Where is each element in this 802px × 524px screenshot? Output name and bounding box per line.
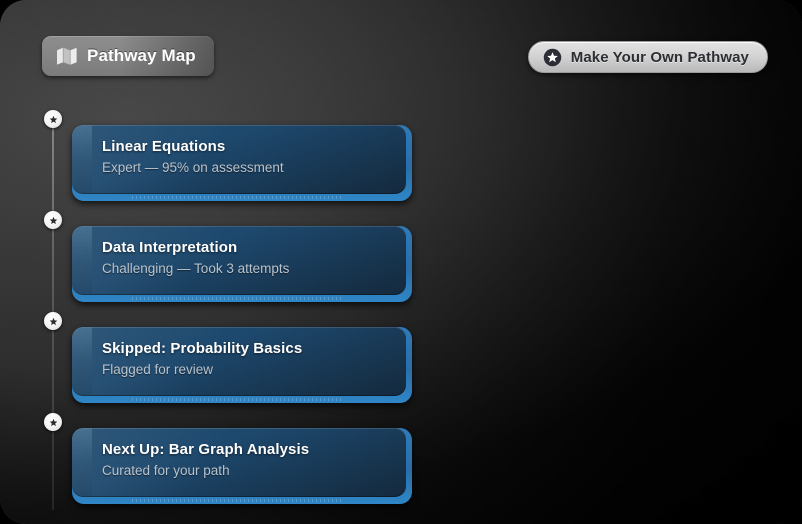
pathway-step-card[interactable]: Skipped: Probability Basics Flagged for …: [72, 327, 412, 403]
make-your-own-pathway-label: Make Your Own Pathway: [571, 49, 749, 66]
page-title: Pathway Map: [87, 46, 196, 66]
pathway-step-subtitle: Flagged for review: [102, 362, 390, 377]
star-icon: [48, 215, 59, 226]
card-bottom-speckle: [132, 398, 342, 401]
pathway-step-title: Linear Equations: [102, 138, 390, 155]
pathway-step-card[interactable]: Linear Equations Expert — 95% on assessm…: [72, 125, 412, 201]
pathway-step-title: Skipped: Probability Basics: [102, 340, 390, 357]
star-circle-icon: [543, 48, 562, 67]
pathway-step-card-body: Next Up: Bar Graph Analysis Curated for …: [72, 428, 406, 497]
star-icon: [48, 114, 59, 125]
pathway-step-card-body: Linear Equations Expert — 95% on assessm…: [72, 125, 406, 194]
pathway-step-title: Next Up: Bar Graph Analysis: [102, 441, 390, 458]
pathway-step-card[interactable]: Data Interpretation Challenging — Took 3…: [72, 226, 412, 302]
pathway-step-title: Data Interpretation: [102, 239, 390, 256]
page-content: Pathway Map Make Your Own Pathway: [0, 0, 802, 524]
make-your-own-pathway-button[interactable]: Make Your Own Pathway: [528, 41, 768, 73]
timeline-node-1[interactable]: [44, 110, 62, 128]
pathway-step-card-body: Data Interpretation Challenging — Took 3…: [72, 226, 406, 295]
page-surface: Pathway Map Make Your Own Pathway: [0, 0, 802, 524]
pathway-step-card-body: Skipped: Probability Basics Flagged for …: [72, 327, 406, 396]
page-title-pill: Pathway Map: [42, 36, 214, 76]
star-icon: [48, 417, 59, 428]
timeline-node-3[interactable]: [44, 312, 62, 330]
star-icon: [48, 316, 59, 327]
map-icon: [56, 46, 78, 66]
card-bottom-speckle: [132, 196, 342, 199]
timeline-node-4[interactable]: [44, 413, 62, 431]
pathway-step-subtitle: Curated for your path: [102, 463, 390, 478]
card-bottom-speckle: [132, 499, 342, 502]
app-screen: Pathway Map Make Your Own Pathway: [0, 0, 802, 524]
card-bottom-speckle: [132, 297, 342, 300]
pathway-step-subtitle: Challenging — Took 3 attempts: [102, 261, 390, 276]
timeline-node-2[interactable]: [44, 211, 62, 229]
timeline-rail: [44, 100, 62, 524]
pathway-step-subtitle: Expert — 95% on assessment: [102, 160, 390, 175]
pathway-step-card[interactable]: Next Up: Bar Graph Analysis Curated for …: [72, 428, 412, 504]
